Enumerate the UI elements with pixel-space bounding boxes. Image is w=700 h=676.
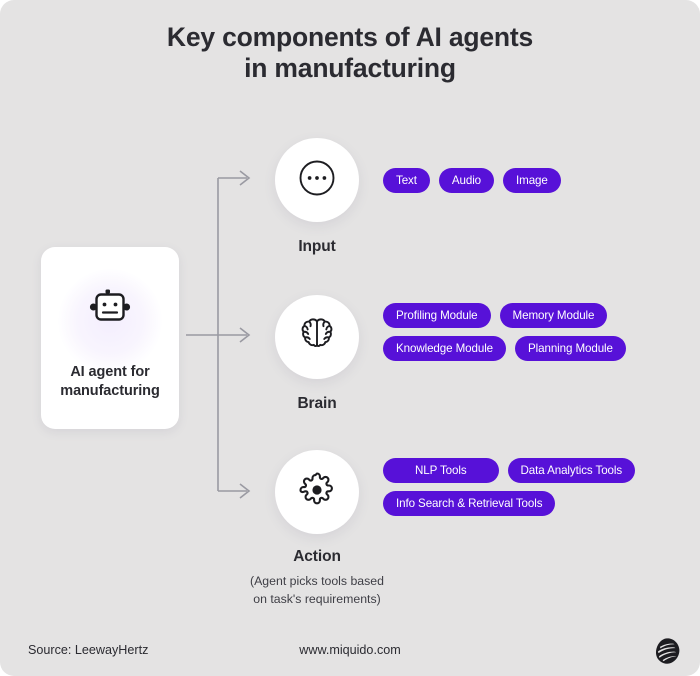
gear-icon (297, 470, 337, 515)
action-caption: (Agent picks tools based on task's requi… (218, 572, 416, 608)
brain-node-circle[interactable] (275, 295, 359, 379)
action-node-circle[interactable] (275, 450, 359, 534)
footer-url[interactable]: www.miquido.com (0, 643, 700, 657)
infographic-canvas: Key components of AI agents in manufactu… (0, 0, 700, 676)
agent-card[interactable]: AI agent for manufacturing (41, 247, 179, 429)
action-label: Action (235, 548, 399, 566)
title-line-2: in manufacturing (0, 53, 700, 84)
agent-label-line-2: manufacturing (60, 382, 159, 401)
action-tag-group: NLP Tools Data Analytics Tools Info Sear… (383, 458, 683, 524)
tag-image[interactable]: Image (503, 168, 561, 193)
dots-circle-icon (297, 158, 337, 203)
brain-label: Brain (235, 395, 399, 413)
tag-row: Text Audio Image (383, 168, 683, 193)
tag-knowledge-module[interactable]: Knowledge Module (383, 336, 506, 361)
page-title: Key components of AI agents in manufactu… (0, 22, 700, 84)
input-tag-group: Text Audio Image (383, 168, 683, 201)
tag-row: Knowledge Module Planning Module (383, 336, 683, 361)
agent-label-line-1: AI agent for (60, 363, 159, 382)
robot-icon (87, 287, 133, 336)
brain-icon (298, 315, 336, 360)
tag-nlp-tools[interactable]: NLP Tools (383, 458, 499, 483)
tag-row: NLP Tools Data Analytics Tools (383, 458, 683, 483)
miquido-logo-icon (655, 637, 681, 665)
tag-profiling-module[interactable]: Profiling Module (383, 303, 491, 328)
agent-card-label: AI agent for manufacturing (60, 363, 159, 401)
tag-info-search-retrieval-tools[interactable]: Info Search & Retrieval Tools (383, 491, 555, 516)
input-label: Input (235, 238, 399, 256)
tag-planning-module[interactable]: Planning Module (515, 336, 626, 361)
brain-tag-group: Profiling Module Memory Module Knowledge… (383, 303, 683, 369)
tag-row: Info Search & Retrieval Tools (383, 491, 683, 516)
tag-text[interactable]: Text (383, 168, 430, 193)
input-node-circle[interactable] (275, 138, 359, 222)
tag-memory-module[interactable]: Memory Module (500, 303, 608, 328)
action-caption-line-1: (Agent picks tools based (218, 572, 416, 590)
tag-row: Profiling Module Memory Module (383, 303, 683, 328)
tag-data-analytics-tools[interactable]: Data Analytics Tools (508, 458, 636, 483)
action-caption-line-2: on task's requirements) (218, 590, 416, 608)
tag-audio[interactable]: Audio (439, 168, 494, 193)
title-line-1: Key components of AI agents (0, 22, 700, 53)
